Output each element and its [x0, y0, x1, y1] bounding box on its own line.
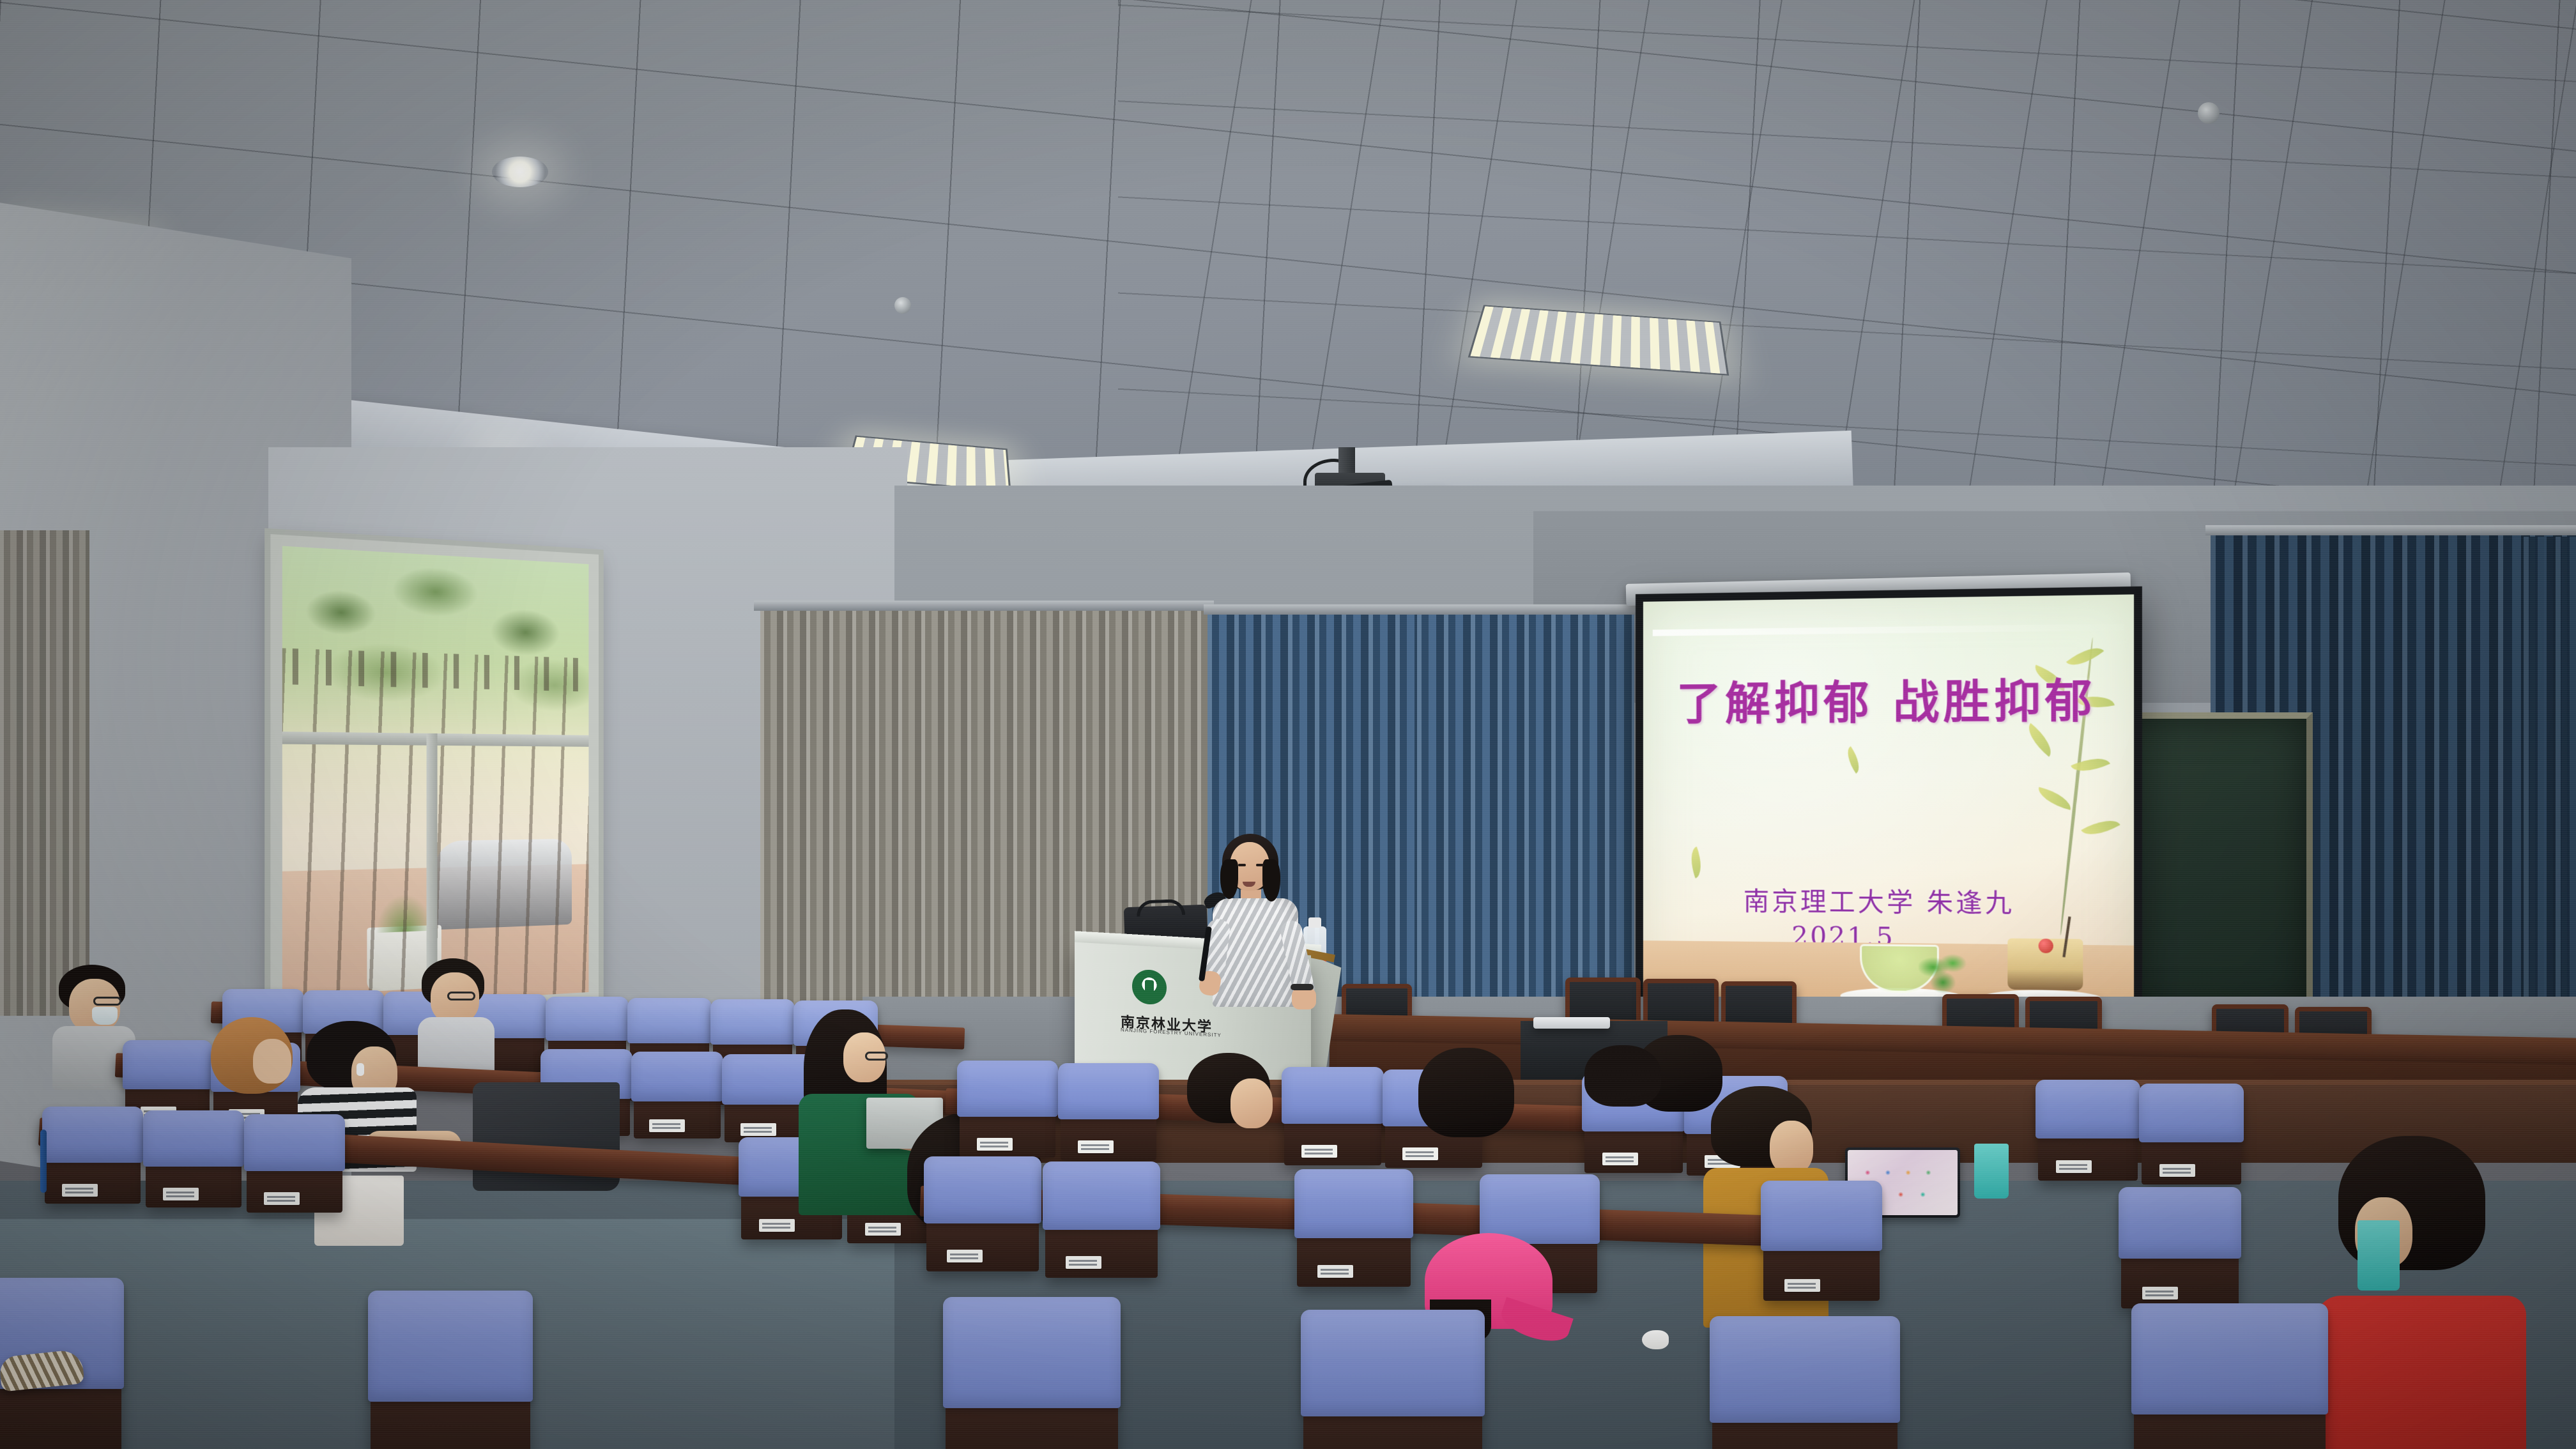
- seat-number-tag: [62, 1184, 98, 1197]
- seat[interactable]: [1061, 1069, 1156, 1160]
- seat-number-tag: [2142, 1287, 2178, 1299]
- seat-cover: [2131, 1303, 2328, 1414]
- hair: [1584, 1045, 1661, 1107]
- seat-number-tag: [264, 1192, 300, 1205]
- torso: [2315, 1296, 2526, 1449]
- seat-number-tag: [2159, 1164, 2195, 1177]
- curtain-rod-blue-stage: [1204, 604, 1638, 615]
- seat-cover: [627, 998, 712, 1043]
- earbud-icon: [356, 1063, 364, 1076]
- seat-cover: [1761, 1181, 1882, 1251]
- seat-cover: [722, 1054, 815, 1105]
- smoke-detector-icon: [894, 297, 911, 314]
- seat-cover: [1043, 1161, 1160, 1230]
- seat-cover: [631, 1052, 723, 1101]
- seat-cover: [1710, 1316, 1900, 1423]
- teal-tumbler: [1974, 1144, 2009, 1199]
- seat-cover: [1282, 1067, 1384, 1124]
- seat-cover: [924, 1156, 1041, 1223]
- seat[interactable]: [2038, 1086, 2138, 1181]
- seat[interactable]: [634, 1058, 721, 1138]
- stage-laptop: [1533, 1017, 1610, 1029]
- seat-number-tag: [947, 1250, 983, 1262]
- teal-bottle-right: [2357, 1220, 2400, 1291]
- slide-leaf-icon: [2081, 812, 2120, 843]
- glasses-icon: [93, 997, 121, 1006]
- seat-number-tag: [740, 1123, 776, 1136]
- seat[interactable]: [371, 1297, 530, 1449]
- seat[interactable]: [1712, 1322, 1897, 1449]
- ceiling-tile-grid-right: [1118, 0, 2576, 486]
- seat[interactable]: [146, 1117, 241, 1207]
- seat-number-tag: [1066, 1256, 1101, 1269]
- seat-cover: [244, 1114, 345, 1171]
- seat[interactable]: [1297, 1176, 1411, 1287]
- slide-leaf-icon: [1841, 746, 1865, 774]
- seat[interactable]: [1284, 1073, 1381, 1165]
- curtain-blue-stage-center: [1417, 608, 1634, 1017]
- slide-title: 了解抑郁 战胜抑郁: [1676, 678, 2078, 727]
- seat[interactable]: [1303, 1316, 1482, 1449]
- curtain-rod-beige: [754, 601, 1214, 611]
- smoke-detector-icon: [2198, 102, 2219, 124]
- slide-top-band: [1653, 624, 2124, 636]
- speaker-wristband: [1291, 984, 1314, 990]
- seat-cover: [368, 1291, 533, 1402]
- seat-cover: [143, 1110, 244, 1167]
- slide-leaf-icon: [1685, 846, 1707, 878]
- head: [69, 979, 120, 1032]
- seat-number-tag: [1402, 1147, 1438, 1160]
- slide-leaf-icon: [2066, 640, 2104, 673]
- seat-cover: [2035, 1080, 2140, 1138]
- seat-cover: [123, 1040, 212, 1089]
- head: [253, 1039, 291, 1084]
- projection-screen[interactable]: 了解抑郁 战胜抑郁 南京理工大学 朱逢九 2021.5: [1636, 586, 2142, 1021]
- seat[interactable]: [926, 1163, 1039, 1271]
- seat-cover: [1294, 1169, 1413, 1238]
- bottle-cap: [1308, 917, 1321, 928]
- seat[interactable]: [2134, 1310, 2326, 1449]
- seat-number-tag: [1078, 1140, 1114, 1153]
- seat-number-tag: [1317, 1265, 1353, 1278]
- slide-surface: 了解抑郁 战胜抑郁 南京理工大学 朱逢九 2021.5: [1643, 594, 2134, 1012]
- seat[interactable]: [1763, 1187, 1880, 1301]
- seat-number-tag: [163, 1188, 199, 1200]
- seat-cover: [42, 1107, 143, 1163]
- seat[interactable]: [45, 1113, 141, 1204]
- speaker-hair-right: [1262, 859, 1280, 901]
- seat-number-tag: [759, 1219, 795, 1232]
- seat[interactable]: [946, 1303, 1118, 1449]
- seat[interactable]: [960, 1067, 1055, 1158]
- seat-number-tag: [865, 1223, 901, 1236]
- slide-mint-leaves: [1919, 949, 1968, 993]
- curtain-beige-left: [0, 530, 89, 1016]
- seat-number-tag: [1602, 1153, 1638, 1165]
- lecture-hall-photo: 了解抑郁 战胜抑郁 南京理工大学 朱逢九 2021.5: [0, 0, 2576, 1449]
- speaker-eye-left: [1238, 864, 1246, 866]
- seat-cover: [546, 997, 629, 1041]
- seat-cover: [943, 1297, 1121, 1408]
- seat-armrest: [40, 1130, 47, 1193]
- glasses-icon: [865, 1052, 888, 1061]
- speaker-hand-right: [1292, 988, 1316, 1009]
- slide-leaf-icon: [2035, 786, 2074, 809]
- torso: [418, 1017, 494, 1075]
- seat-cover: [710, 999, 795, 1045]
- head: [1770, 1121, 1813, 1174]
- glasses-icon: [447, 992, 475, 1000]
- window: [270, 534, 599, 1022]
- seat-number-tag: [649, 1119, 685, 1132]
- tissue-on-rail: [1642, 1330, 1669, 1349]
- seat[interactable]: [247, 1121, 342, 1213]
- seat[interactable]: [2142, 1090, 2241, 1184]
- seat-cover: [957, 1061, 1058, 1117]
- seat-cover: [2139, 1084, 2244, 1142]
- seat-cover: [2119, 1187, 2241, 1259]
- hair: [1418, 1048, 1514, 1137]
- seat-cover: [1058, 1063, 1159, 1119]
- head: [1230, 1078, 1273, 1128]
- seat[interactable]: [2121, 1193, 2239, 1308]
- slide-cherry: [2038, 939, 2053, 953]
- seat-number-tag: [1784, 1279, 1820, 1292]
- seat-cover: [1301, 1310, 1485, 1416]
- seat-number-tag: [977, 1138, 1013, 1151]
- speaker-eye-right: [1256, 864, 1264, 866]
- face-mask: [92, 1007, 118, 1025]
- seat[interactable]: [1045, 1168, 1158, 1278]
- slide-organization: 南京理工大学 朱逢九: [1744, 880, 2014, 920]
- seat-number-tag: [2056, 1160, 2092, 1173]
- curtain-rod-blue-right: [2205, 525, 2576, 535]
- speaker-hair-left: [1220, 859, 1238, 899]
- downlight-1-icon: [492, 157, 548, 187]
- seat-number-tag: [1301, 1145, 1337, 1158]
